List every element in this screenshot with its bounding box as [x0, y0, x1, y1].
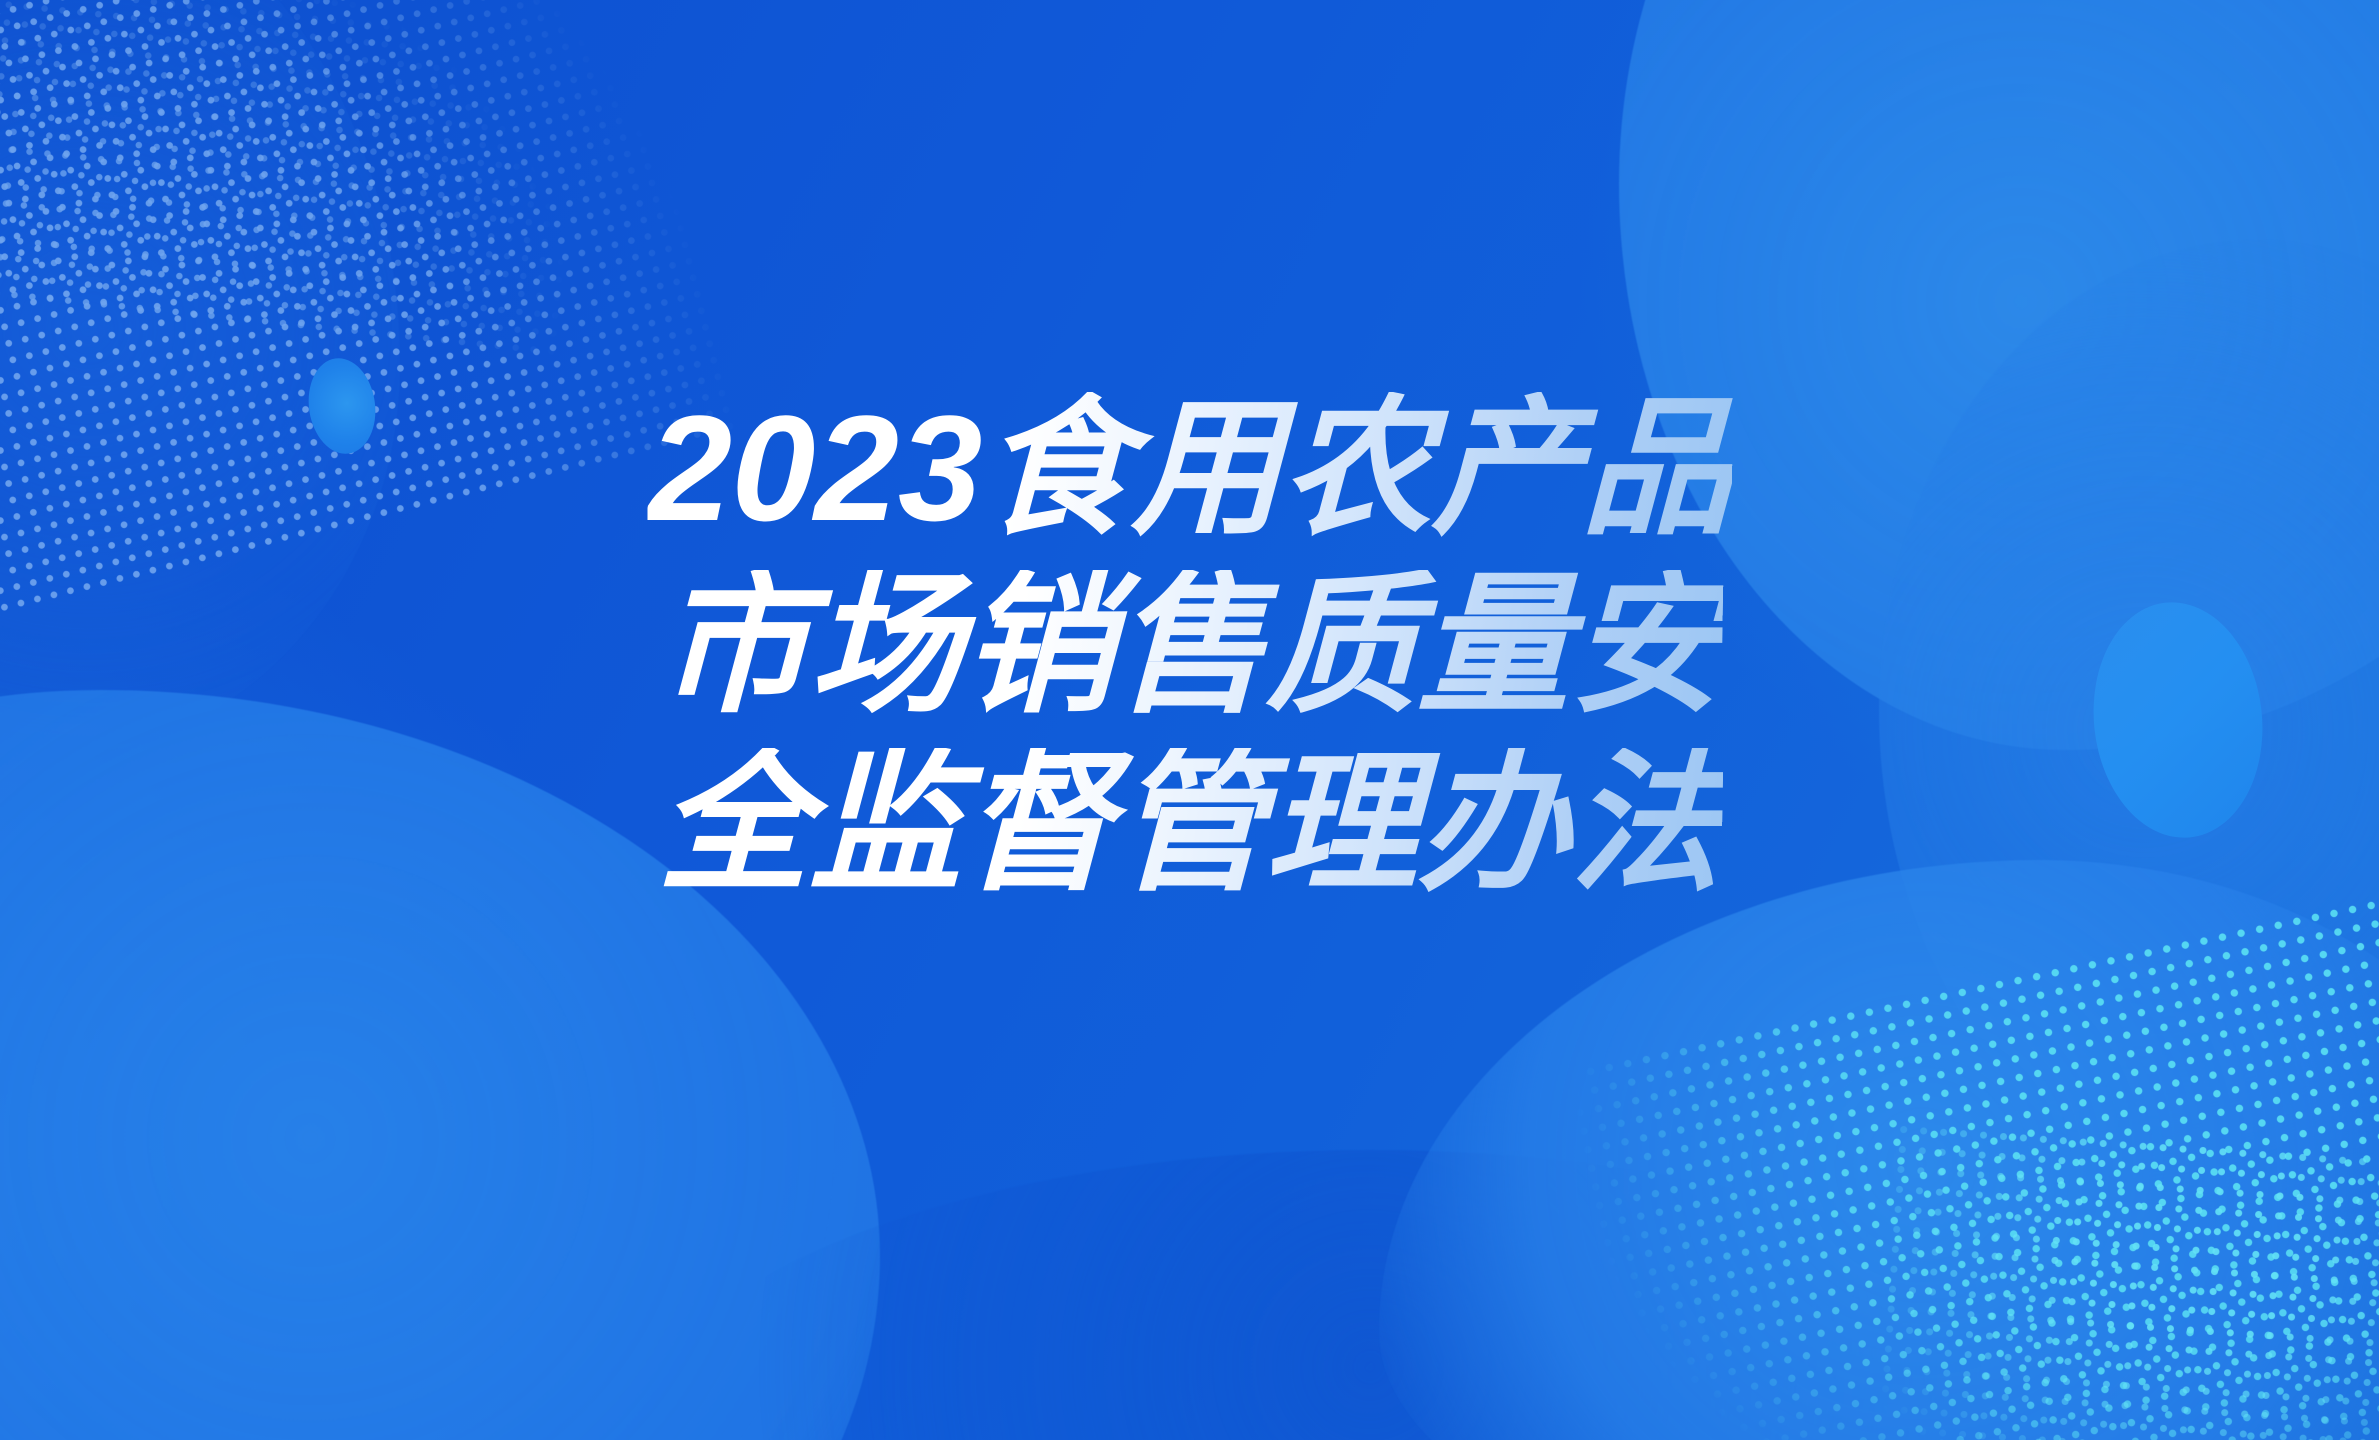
- poster-title: 2023食用农产品 市场销售质量安 全监督管理办法: [0, 392, 2379, 926]
- halftone-dot-fan-bottom-right-2-icon: [1865, 1119, 2379, 1440]
- poster-title-line-1: 2023食用农产品: [646, 392, 1733, 570]
- poster-title-line-2: 市场销售质量安: [656, 570, 1723, 748]
- poster-canvas: 2023食用农产品 市场销售质量安 全监督管理办法: [0, 0, 2379, 1440]
- poster-title-line-3: 全监督管理办法: [656, 748, 1723, 926]
